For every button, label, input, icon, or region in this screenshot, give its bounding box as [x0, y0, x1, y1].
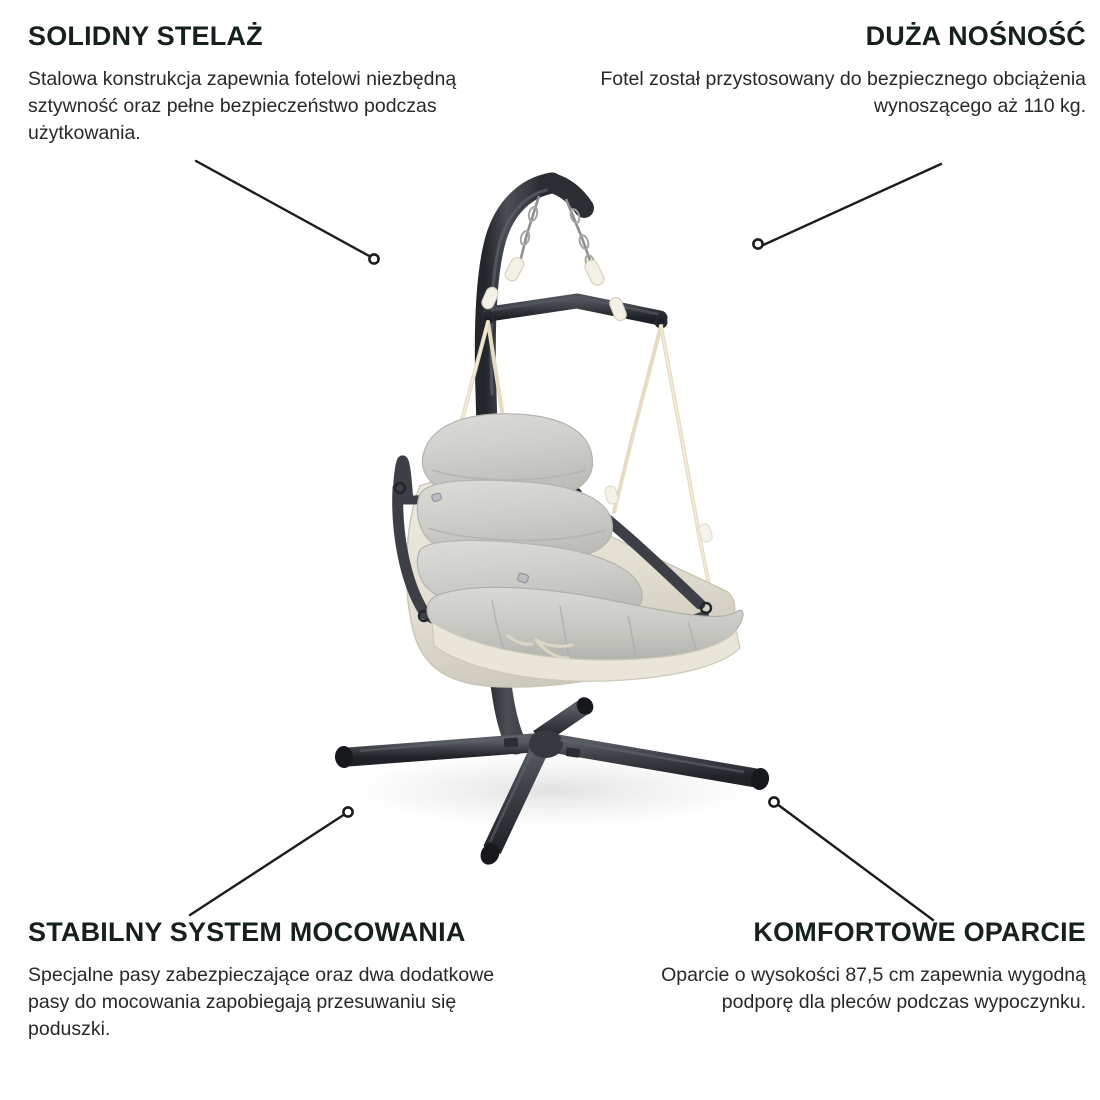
feature-title-stabilny-system-mocowania: STABILNY SYSTEM MOCOWANIA: [28, 918, 528, 948]
feature-description-stabilny-system-mocowania: Specjalne pasy zabezpieczające oraz dwa …: [28, 962, 528, 1043]
feature-description-solidny-stelaz: Stalowa konstrukcja zapewnia fotelowi ni…: [28, 66, 488, 147]
product-infographic: SOLIDNY STELAŻ Stalowa konstrukcja zapew…: [0, 0, 1100, 1100]
feature-block-duza-nosnosc: DUŻA NOŚNOŚĆ Fotel został przystosowany …: [586, 22, 1086, 120]
feature-block-komfortowe-oparcie: KOMFORTOWE OPARCIE Oparcie o wysokości 8…: [606, 918, 1086, 1016]
feature-title-komfortowe-oparcie: KOMFORTOWE OPARCIE: [606, 918, 1086, 948]
feature-description-duza-nosnosc: Fotel został przystosowany do bezpieczne…: [586, 66, 1086, 120]
base-hub: [529, 730, 563, 758]
feature-block-solidny-stelaz: SOLIDNY STELAŻ Stalowa konstrukcja zapew…: [28, 22, 488, 146]
feature-description-komfortowe-oparcie: Oparcie o wysokości 87,5 cm zapewnia wyg…: [606, 962, 1086, 1016]
feature-block-stabilny-system-mocowania: STABILNY SYSTEM MOCOWANIA Specjalne pasy…: [28, 918, 528, 1042]
feature-title-duza-nosnosc: DUŻA NOŚNOŚĆ: [586, 22, 1086, 52]
spreader-bar: [483, 297, 666, 327]
feature-title-solidny-stelaz: SOLIDNY STELAŻ: [28, 22, 488, 52]
